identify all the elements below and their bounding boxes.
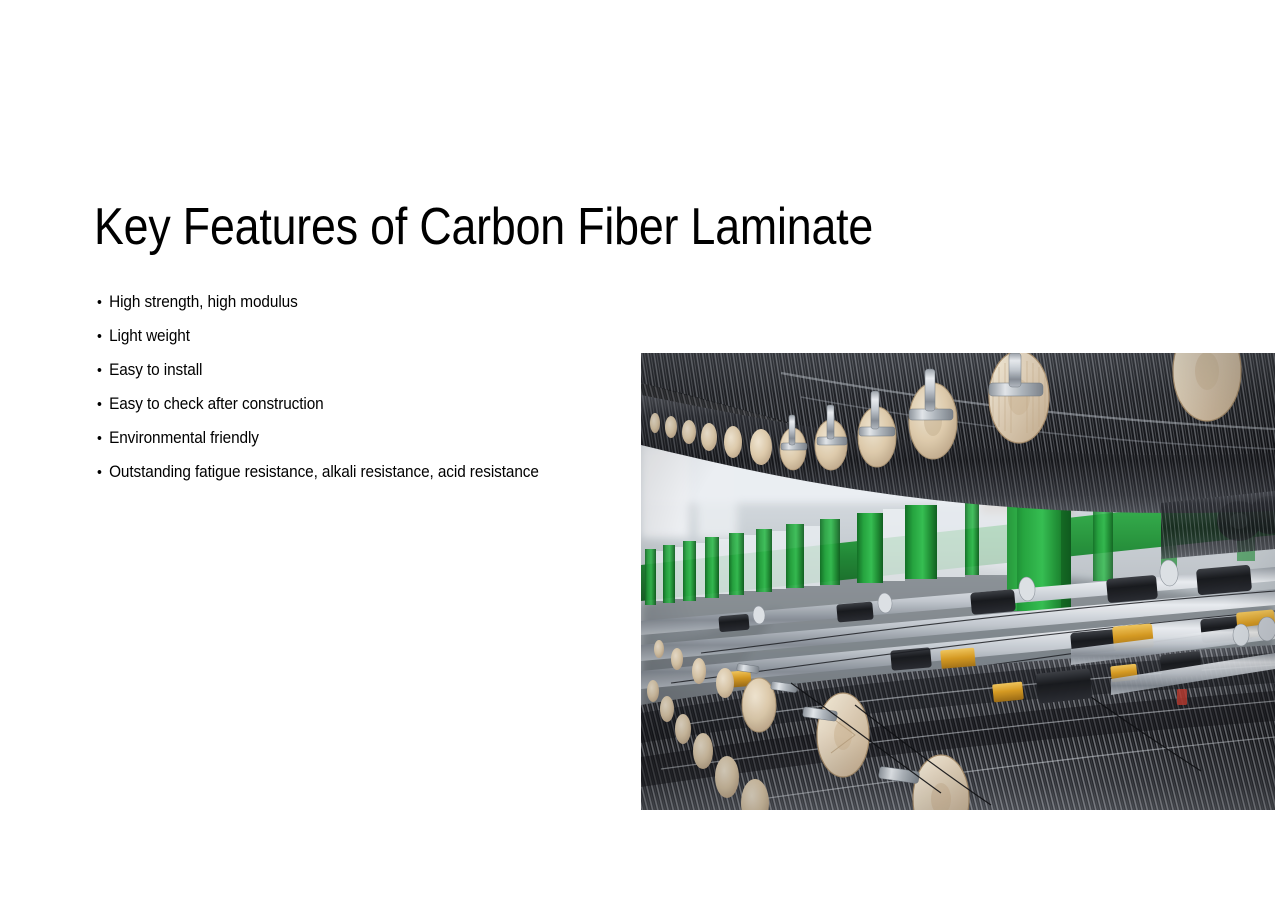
feature-bullet-list: •High strength, high modulus •Light weig… (97, 285, 637, 489)
list-item: •Outstanding fatigue resistance, alkali … (97, 455, 599, 489)
list-item: •Environmental friendly (97, 421, 599, 455)
slide-canvas: Key Features of Carbon Fiber Laminate •H… (0, 0, 1275, 902)
bullet-point-icon: • (97, 286, 109, 320)
list-item-label: Outstanding fatigue resistance, alkali r… (109, 463, 539, 481)
list-item-label: Easy to check after construction (109, 395, 324, 413)
list-item-label: Easy to install (109, 361, 202, 379)
bullet-point-icon: • (97, 388, 109, 422)
list-item-label: Environmental friendly (109, 429, 259, 447)
list-item: •Light weight (97, 319, 599, 353)
list-item-label: High strength, high modulus (109, 293, 298, 311)
list-item: •High strength, high modulus (97, 285, 599, 319)
list-item-label: Light weight (109, 327, 190, 345)
page-title: Key Features of Carbon Fiber Laminate (94, 198, 954, 256)
bullet-point-icon: • (97, 320, 109, 354)
bullet-point-icon: • (97, 354, 109, 388)
bullet-point-icon: • (97, 456, 109, 490)
list-item: •Easy to install (97, 353, 599, 387)
list-item: •Easy to check after construction (97, 387, 599, 421)
carbon-fiber-creel-photo (641, 353, 1275, 810)
bullet-point-icon: • (97, 422, 109, 456)
carbon-fiber-creel-illustration (641, 353, 1275, 810)
